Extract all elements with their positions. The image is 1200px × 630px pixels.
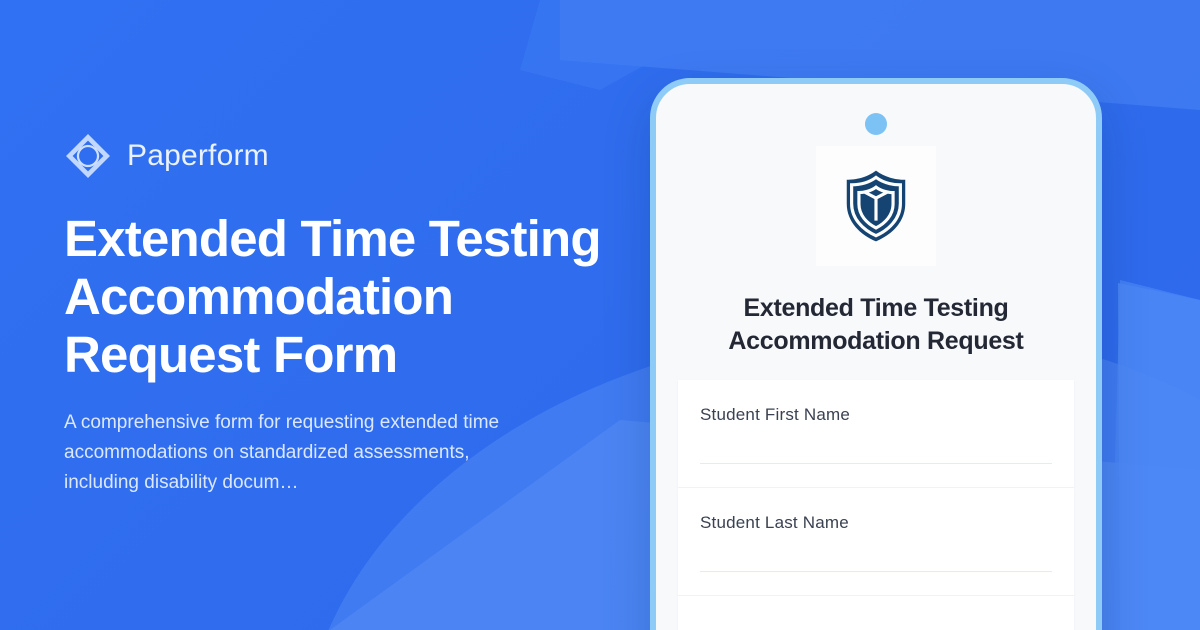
- page-title: Extended Time Testing Accommodation Requ…: [64, 210, 624, 384]
- paperform-star-logo-icon: [64, 132, 112, 180]
- brand-name: Paperform: [127, 139, 269, 173]
- page-description: A comprehensive form for requesting exte…: [64, 408, 544, 498]
- brand-logo: Paperform: [64, 132, 664, 180]
- form-field-student-first-name[interactable]: Student First Name: [678, 380, 1074, 488]
- hero-section: Paperform Extended Time Testing Accommod…: [64, 0, 664, 630]
- camera-dot-icon: [865, 113, 887, 135]
- form-logo-container: [816, 146, 936, 266]
- shield-badge-icon: [837, 167, 915, 245]
- form-fields-list: Student First Name Student Last Name: [656, 380, 1096, 630]
- field-input-underline[interactable]: [700, 571, 1052, 572]
- form-title: Extended Time Testing Accommodation Requ…: [684, 292, 1068, 357]
- field-label: Student First Name: [700, 405, 1052, 425]
- form-field-student-last-name[interactable]: Student Last Name: [678, 488, 1074, 596]
- phone-mockup: Extended Time Testing Accommodation Requ…: [650, 78, 1102, 630]
- form-field-next-partial[interactable]: [678, 596, 1074, 630]
- field-input-underline[interactable]: [700, 463, 1052, 464]
- field-label: Student Last Name: [700, 513, 1052, 533]
